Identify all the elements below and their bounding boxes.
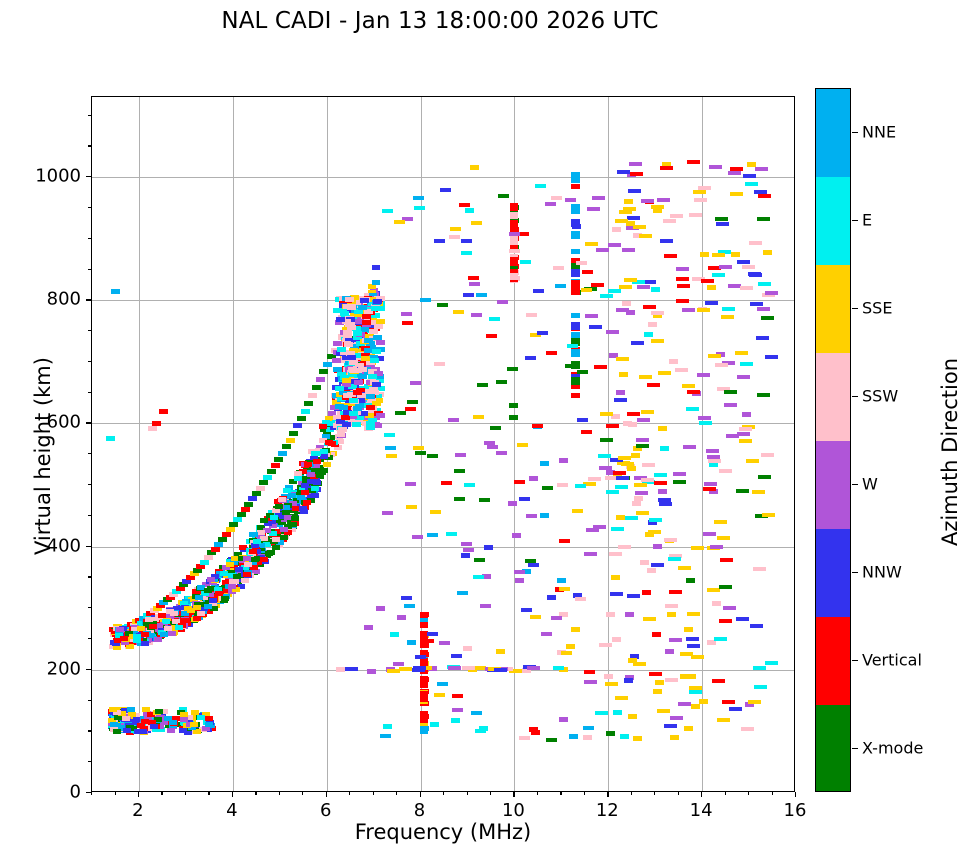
data-point <box>342 378 351 383</box>
colorbar-label-ssw: SSW <box>862 387 898 406</box>
data-point <box>465 208 474 213</box>
colorbar-segment-x-mode[interactable] <box>816 705 850 791</box>
data-point <box>651 339 664 343</box>
data-point <box>439 641 450 645</box>
data-point <box>360 298 369 303</box>
data-point <box>333 367 342 372</box>
data-point <box>362 314 371 319</box>
data-point <box>427 632 438 636</box>
data-point <box>614 398 627 402</box>
data-point <box>191 710 199 715</box>
data-point <box>463 293 474 297</box>
colorbar-segment-vertical[interactable] <box>816 617 850 705</box>
data-point <box>619 285 632 289</box>
data-point <box>122 716 130 721</box>
data-point <box>756 336 769 340</box>
data-point <box>754 685 767 689</box>
data-point <box>335 404 344 409</box>
data-point <box>611 527 624 531</box>
data-point <box>559 717 568 722</box>
data-point <box>248 496 257 501</box>
data-point <box>484 545 493 550</box>
data-point <box>471 221 482 225</box>
data-point <box>712 253 725 257</box>
x-tick-minor <box>396 792 397 795</box>
data-point <box>338 427 347 432</box>
data-point <box>289 431 298 436</box>
data-point <box>304 462 312 467</box>
data-point <box>572 509 583 513</box>
data-point <box>653 544 662 549</box>
data-point <box>278 451 287 456</box>
data-point <box>624 199 633 204</box>
data-point <box>366 421 375 426</box>
data-point <box>364 338 373 343</box>
data-point <box>498 194 509 198</box>
data-point <box>615 485 628 489</box>
data-point <box>237 512 246 517</box>
data-point <box>750 302 763 306</box>
data-point <box>420 728 428 734</box>
data-point <box>537 331 548 335</box>
data-point <box>497 300 508 304</box>
data-point <box>571 280 580 288</box>
data-point <box>275 504 283 509</box>
data-point <box>728 284 741 288</box>
colorbar-segment-w[interactable] <box>816 441 850 529</box>
data-point <box>358 305 367 310</box>
data-point <box>369 387 378 392</box>
data-point <box>535 184 546 188</box>
data-point <box>241 578 249 583</box>
data-point <box>461 251 472 255</box>
data-point <box>127 707 135 712</box>
data-point <box>589 325 602 329</box>
data-point <box>673 472 686 476</box>
data-point <box>168 631 176 636</box>
data-point <box>714 637 727 641</box>
data-point <box>729 707 742 711</box>
data-point <box>616 390 625 395</box>
data-point <box>180 717 188 722</box>
data-point <box>407 400 418 404</box>
data-point <box>316 473 324 478</box>
data-point <box>244 502 253 507</box>
data-point <box>406 505 417 509</box>
data-point <box>193 605 201 610</box>
data-point <box>719 469 732 473</box>
data-point <box>372 382 381 387</box>
data-point <box>372 265 380 270</box>
data-point <box>399 667 412 671</box>
data-point <box>600 412 613 416</box>
data-point <box>423 639 434 643</box>
data-point <box>598 454 611 458</box>
data-point <box>557 483 568 487</box>
data-point <box>451 654 462 658</box>
data-point <box>382 209 393 213</box>
data-point <box>737 260 750 264</box>
data-point <box>229 522 238 527</box>
data-point <box>652 632 661 637</box>
data-point <box>742 265 755 269</box>
data-point <box>386 454 397 458</box>
data-point <box>260 518 268 523</box>
data-point <box>660 166 673 170</box>
data-point <box>582 270 593 274</box>
data-point <box>154 637 162 642</box>
data-point <box>294 471 302 476</box>
data-point <box>670 214 683 218</box>
data-point <box>316 377 325 382</box>
data-point <box>271 463 280 468</box>
data-point <box>704 482 717 486</box>
data-point <box>235 567 243 572</box>
data-point <box>592 196 605 200</box>
data-point <box>639 375 652 379</box>
data-point <box>461 239 472 243</box>
data-point <box>519 736 530 740</box>
data-point <box>691 655 704 659</box>
data-point <box>636 438 649 442</box>
data-point <box>616 515 625 520</box>
data-point <box>510 257 518 264</box>
data-point <box>229 579 237 584</box>
data-point <box>587 207 600 211</box>
data-point <box>291 516 299 521</box>
data-point <box>691 546 704 550</box>
data-point <box>761 316 774 320</box>
colorbar-segment-sse[interactable] <box>816 265 850 353</box>
data-point <box>736 489 749 493</box>
data-point <box>612 227 621 232</box>
data-point <box>448 666 461 670</box>
data-point <box>636 511 649 515</box>
data-point <box>267 469 276 474</box>
data-point <box>737 432 750 436</box>
data-point <box>653 208 662 213</box>
plot-area[interactable] <box>91 96 795 792</box>
data-point <box>304 401 313 406</box>
y-tick-minor <box>88 730 91 731</box>
data-point <box>698 416 711 420</box>
y-tick-minor <box>88 115 91 116</box>
data-point <box>706 449 719 453</box>
data-point <box>415 451 426 455</box>
data-point <box>722 307 735 311</box>
data-point <box>382 511 393 515</box>
data-point <box>649 672 662 676</box>
data-point <box>204 604 212 609</box>
data-point <box>463 646 472 651</box>
data-point <box>288 493 296 498</box>
data-point <box>395 411 406 415</box>
data-point <box>514 570 525 574</box>
data-point <box>715 363 728 367</box>
data-point <box>401 596 412 600</box>
data-point <box>507 367 518 371</box>
data-point <box>687 644 700 648</box>
data-point <box>643 305 656 309</box>
data-point <box>687 612 700 616</box>
data-point <box>642 463 655 467</box>
data-point <box>664 538 677 542</box>
data-point <box>123 728 131 733</box>
data-point <box>352 422 361 427</box>
data-point <box>461 553 470 558</box>
data-point <box>526 313 537 317</box>
data-point <box>588 477 601 481</box>
data-point <box>752 490 765 494</box>
data-point <box>716 222 729 226</box>
data-point <box>518 232 529 236</box>
data-point <box>571 269 580 277</box>
data-point <box>668 557 681 561</box>
data-point <box>249 549 257 554</box>
data-point <box>720 558 733 562</box>
x-tick-label: 8 <box>414 800 425 821</box>
data-point <box>184 606 192 611</box>
y-tick-major <box>86 669 91 670</box>
data-point <box>133 634 141 639</box>
data-point <box>613 471 626 475</box>
data-point <box>280 527 288 532</box>
data-point <box>282 444 291 449</box>
data-point <box>141 632 149 637</box>
data-point <box>109 707 117 712</box>
data-point <box>700 252 709 257</box>
x-tick-minor <box>208 792 209 795</box>
data-point <box>571 249 580 254</box>
data-point <box>743 174 756 178</box>
data-point <box>387 669 400 673</box>
data-point <box>335 386 344 391</box>
data-point <box>457 591 468 595</box>
data-point <box>678 702 691 706</box>
x-tick-major <box>420 792 421 797</box>
data-point <box>670 716 683 720</box>
data-point <box>719 585 732 589</box>
data-point <box>565 364 576 368</box>
data-point <box>283 488 291 493</box>
data-point <box>714 520 727 524</box>
data-point <box>114 715 122 720</box>
data-point <box>703 532 716 536</box>
y-tick-minor <box>88 361 91 362</box>
data-point <box>686 407 699 411</box>
data-point <box>313 480 321 485</box>
data-point <box>366 394 375 399</box>
data-point <box>455 453 466 457</box>
data-point <box>420 612 428 618</box>
data-point <box>701 279 714 283</box>
x-tick-minor <box>537 792 538 795</box>
y-tick-minor <box>88 330 91 331</box>
data-point <box>648 322 657 327</box>
x-tick-minor <box>443 792 444 795</box>
x-tick-major <box>326 792 327 797</box>
data-point <box>687 390 700 394</box>
data-point <box>193 616 201 621</box>
data-point <box>636 444 649 448</box>
data-point <box>551 616 562 620</box>
data-point <box>540 461 549 466</box>
data-point <box>708 354 721 358</box>
data-point <box>547 595 556 600</box>
data-point <box>180 618 188 623</box>
scatter-data-layer <box>92 97 794 791</box>
data-point <box>703 487 716 491</box>
colorbar-tick <box>852 748 858 749</box>
data-point <box>581 288 592 292</box>
data-point <box>555 284 566 288</box>
data-point <box>243 556 251 561</box>
colorbar[interactable] <box>815 88 851 792</box>
data-point <box>571 287 580 295</box>
data-point <box>575 484 586 488</box>
y-tick-major <box>86 176 91 177</box>
data-point <box>571 219 580 227</box>
data-point <box>527 666 540 670</box>
x-axis-title: Frequency (MHz) <box>91 820 795 844</box>
data-point <box>585 242 598 246</box>
data-point <box>584 670 595 674</box>
data-point <box>420 694 428 700</box>
data-point <box>658 498 671 502</box>
data-point <box>616 476 629 480</box>
data-point <box>371 306 380 311</box>
data-point <box>267 550 275 555</box>
data-point <box>632 501 641 506</box>
data-point <box>639 234 652 238</box>
data-point <box>496 649 505 654</box>
x-tick-minor <box>560 792 561 795</box>
data-point <box>366 405 375 410</box>
data-point <box>256 486 265 491</box>
colorbar-segment-ssw[interactable] <box>816 353 850 441</box>
data-point <box>642 590 651 595</box>
data-point <box>148 426 157 431</box>
y-tick-label: 1000 <box>0 166 81 187</box>
data-point <box>274 457 283 462</box>
data-point <box>561 651 572 655</box>
data-point <box>333 341 342 346</box>
data-point <box>709 462 718 467</box>
data-point <box>362 320 371 325</box>
data-point <box>312 385 321 390</box>
x-tick-minor <box>631 792 632 795</box>
data-point <box>753 567 766 571</box>
y-tick-minor <box>88 238 91 239</box>
data-point <box>150 724 158 729</box>
data-point <box>141 641 149 646</box>
data-point <box>166 609 174 614</box>
data-point <box>707 285 716 290</box>
y-axis-title: Virtual height (km) <box>31 306 55 606</box>
data-point <box>468 276 479 280</box>
x-tick-label: 12 <box>596 800 619 821</box>
data-point <box>393 662 404 666</box>
data-point <box>376 340 385 345</box>
data-point <box>651 311 664 315</box>
data-point <box>644 332 653 337</box>
data-point <box>687 160 700 164</box>
colorbar-segment-nne[interactable] <box>816 89 850 177</box>
data-point <box>658 371 671 375</box>
colorbar-segment-nnw[interactable] <box>816 529 850 617</box>
data-point <box>596 248 609 252</box>
data-point <box>635 491 648 495</box>
data-point <box>651 287 660 292</box>
colorbar-label-nnw: NNW <box>862 563 902 582</box>
data-point <box>272 545 280 550</box>
data-point <box>621 462 634 466</box>
data-point <box>319 369 328 374</box>
colorbar-segment-e[interactable] <box>816 177 850 265</box>
data-point <box>454 469 465 473</box>
data-point <box>676 277 689 281</box>
data-point <box>272 508 280 513</box>
data-point <box>658 489 667 494</box>
data-point <box>405 482 416 486</box>
data-point <box>372 280 380 285</box>
data-point <box>106 436 115 441</box>
y-tick-minor <box>88 607 91 608</box>
data-point <box>581 430 592 434</box>
data-point <box>627 594 640 598</box>
data-point <box>546 738 557 742</box>
data-point <box>253 539 261 544</box>
y-tick-minor <box>88 761 91 762</box>
data-point <box>616 308 629 312</box>
data-point <box>474 558 485 562</box>
data-point <box>490 426 501 430</box>
data-point <box>366 425 375 430</box>
data-point <box>257 530 265 535</box>
data-point <box>618 456 631 460</box>
data-point <box>736 617 749 621</box>
data-point <box>571 627 580 632</box>
colorbar-tick <box>852 220 858 221</box>
data-point <box>509 249 520 253</box>
data-point <box>628 189 641 193</box>
colorbar-tick <box>852 396 858 397</box>
data-point <box>609 552 622 556</box>
colorbar-label-e: E <box>862 211 872 230</box>
data-point <box>325 440 333 445</box>
data-point <box>622 301 631 306</box>
data-point <box>724 403 737 407</box>
data-point <box>612 637 621 642</box>
data-point <box>451 718 460 723</box>
data-point <box>286 438 295 443</box>
data-point <box>353 331 362 336</box>
y-tick-minor <box>88 207 91 208</box>
data-point <box>665 678 678 682</box>
data-point <box>510 204 518 211</box>
data-point <box>464 483 475 487</box>
x-tick-minor <box>115 792 116 795</box>
data-point <box>308 393 317 398</box>
data-point <box>647 568 656 573</box>
data-point <box>323 362 332 367</box>
data-point <box>665 604 678 608</box>
data-point <box>739 439 752 443</box>
data-point <box>347 325 356 330</box>
data-point <box>693 190 706 194</box>
data-point <box>715 217 728 221</box>
data-point <box>721 315 734 319</box>
